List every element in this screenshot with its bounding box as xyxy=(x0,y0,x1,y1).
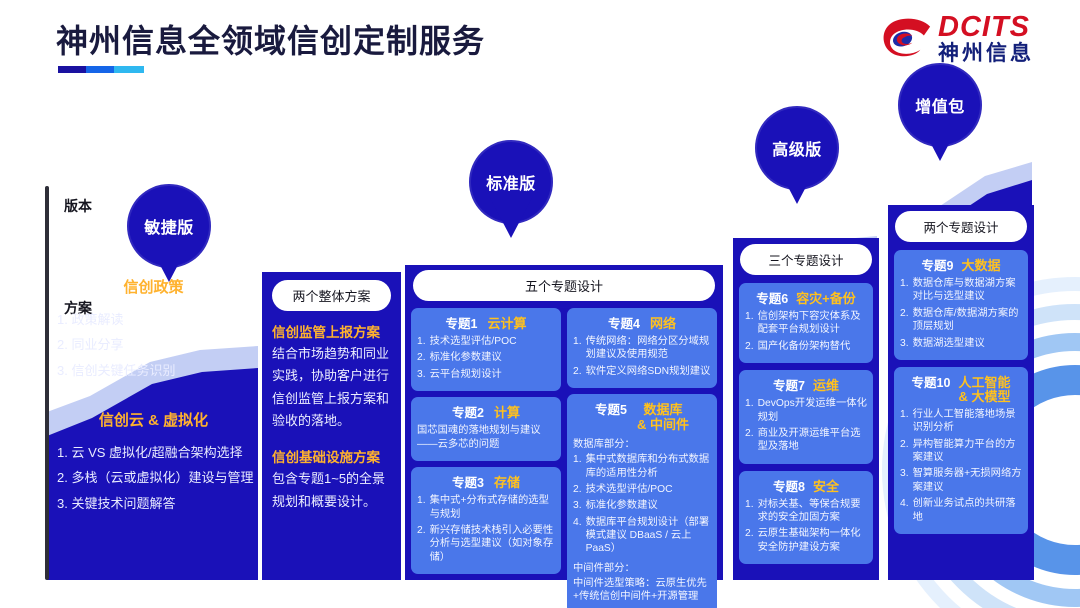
pin-agile[interactable]: 敏捷版 xyxy=(127,184,211,268)
list-item: 3.标准化参数建议 xyxy=(573,499,711,512)
topic-name: 运维 xyxy=(813,379,839,394)
title-underline xyxy=(58,66,144,73)
topic-name: 网络 xyxy=(650,317,676,332)
list-item: 3.云平台规划设计 xyxy=(417,368,555,381)
topic-name: 安全 xyxy=(813,480,839,495)
topic-name: 数据库& 中间件 xyxy=(637,403,689,432)
list-item: 2.数据仓库/数据湖方案的顶层规划 xyxy=(900,307,1022,334)
block-heading-supervision: 信创监管上报方案 xyxy=(272,321,391,341)
list-item: 4.创新业务试点的共研落地 xyxy=(900,497,1022,524)
column-three-topics: 三个专题设计 专题6 容灾+备份 1.信创架构下容灾体系及配套平台规划设计 2.… xyxy=(733,238,879,580)
block-text-supervision: 结合市场趋势和同业实践，协助客户进行信创监管上报方案和验收的落地。 xyxy=(272,343,391,432)
list-item: 1.集中式数据库和分布式数据库的适用性分析 xyxy=(573,453,711,480)
topic-number: 专题3 xyxy=(452,472,484,491)
block-heading-infrastructure: 信创基础设施方案 xyxy=(272,446,391,466)
column-overall-solutions: 两个整体方案 信创监管上报方案 结合市场趋势和同业实践，协助客户进行信创监管上报… xyxy=(262,272,401,580)
list-item: 1.集中式+分布式存储的选型与规划 xyxy=(417,494,555,521)
pin-label: 标准版 xyxy=(469,140,553,224)
list-item: 1.DevOps开发运维一体化规划 xyxy=(745,397,867,424)
topic-cards-right: 专题4 网络 1.传统网络：网络分区分域规划建议及使用规范 2.软件定义网络SD… xyxy=(567,308,717,608)
topic-card-1[interactable]: 专题1 云计算 1.技术选型评估/POC 2.标准化参数建议 3.云平台规划设计 xyxy=(411,308,561,391)
topic-name: 大数据 xyxy=(961,259,1000,274)
cloud-list: 1. 云 VS 虚拟化/超融合架构选择 2. 多栈（云或虚拟化）建设与管理 3.… xyxy=(47,440,260,516)
list-item: 2.商业及开源运维平台选型及落地 xyxy=(745,427,867,454)
topic-card-4[interactable]: 专题4 网络 1.传统网络：网络分区分域规划建议及使用规范 2.软件定义网络SD… xyxy=(567,308,717,388)
topic-card-5[interactable]: 专题5 数据库& 中间件 数据库部分： 1.集中式数据库和分布式数据库的适用性分… xyxy=(567,394,717,608)
list-item: 2. 多栈（云或虚拟化）建设与管理 xyxy=(57,465,260,490)
topic-number: 专题2 xyxy=(452,402,484,421)
topic-card-3[interactable]: 专题3 存储 1.集中式+分布式存储的选型与规划 2.新兴存储技术栈引入必要性分… xyxy=(411,467,561,574)
list-item: 3. 关键技术问题解答 xyxy=(57,491,260,516)
list-item: 1. 云 VS 虚拟化/超融合架构选择 xyxy=(57,440,260,465)
logo-en-text: DCITS xyxy=(938,12,1034,42)
list-item: 1.传统网络：网络分区分域规划建议及使用规范 xyxy=(573,335,711,362)
topic-card-10[interactable]: 专题10 人工智能& 大模型 1.行业人工智能落地场景识别分析 2.异构智能算力… xyxy=(894,367,1028,534)
list-item: 3.数据湖选型建议 xyxy=(900,337,1022,350)
list-item: 1.数据仓库与数据湖方案对比与选型建议 xyxy=(900,277,1022,304)
pill-five-topic-design[interactable]: 五个专题设计 xyxy=(413,270,715,301)
list-item: 2. 同业分享 xyxy=(57,332,260,357)
list-item: 1.行业人工智能落地场景识别分析 xyxy=(900,408,1022,435)
topic-number: 专题6 xyxy=(756,288,788,307)
topic-card-7[interactable]: 专题7 运维 1.DevOps开发运维一体化规划 2.商业及开源运维平台选型及落… xyxy=(739,370,873,464)
list-item: 2.标准化参数建议 xyxy=(417,351,555,364)
topic-name: 云计算 xyxy=(487,317,526,332)
slide-canvas: 神州信息全领域信创定制服务 DCITS 神州信息 版本 方案 xyxy=(0,0,1080,608)
pin-label: 高级版 xyxy=(755,106,839,190)
topic-number: 专题7 xyxy=(773,375,805,394)
pin-label: 增值包 xyxy=(898,63,982,147)
pin-label: 敏捷版 xyxy=(127,184,211,268)
topic-card-9[interactable]: 专题9 大数据 1.数据仓库与数据湖方案对比与选型建议 2.数据仓库/数据湖方案… xyxy=(894,250,1028,360)
topic-name: 容灾+备份 xyxy=(796,292,856,307)
column-agile: 信创政策 1. 政策解读 2. 同业分享 3. 信创关键任务识别 信创云 & 虚… xyxy=(47,276,260,516)
topic-number: 专题8 xyxy=(773,476,805,495)
page-title: 神州信息全领域信创定制服务 xyxy=(56,16,485,62)
axis-label-version: 版本 xyxy=(64,196,92,216)
topic-name: 人工智能& 大模型 xyxy=(958,376,1010,405)
section-heading-cloud: 信创云 & 虚拟化 xyxy=(47,409,260,430)
list-item: 2.异构智能算力平台的方案建议 xyxy=(900,438,1022,465)
list-item: 1.信创架构下容灾体系及配套平台规划设计 xyxy=(745,310,867,337)
pin-advanced[interactable]: 高级版 xyxy=(755,106,839,190)
topic-card-2[interactable]: 专题2 计算 国芯国魂的落地规划与建议——云多芯的问题 xyxy=(411,397,561,461)
topic-card-8[interactable]: 专题8 安全 1.对标关基、等保合规要求的安全加固方案 2.云原生基础架构一体化… xyxy=(739,471,873,565)
block-text-infrastructure: 包含专题1~5的全景规划和概要设计。 xyxy=(272,468,391,513)
list-item: 2.国产化备份架构替代 xyxy=(745,340,867,353)
pill-two-topic-design[interactable]: 两个专题设计 xyxy=(895,211,1027,242)
topic-number: 专题1 xyxy=(446,313,478,332)
list-item: 1.技术选型评估/POC xyxy=(417,335,555,348)
topic-number: 专题9 xyxy=(922,255,954,274)
list-item: 1.对标关基、等保合规要求的安全加固方案 xyxy=(745,498,867,525)
topic-text-mw: 中间件选型策略：云原生优先+传统信创中间件+开源管理 xyxy=(573,577,711,604)
list-item: 2.技术选型评估/POC xyxy=(573,483,711,496)
column-two-topics: 两个专题设计 专题9 大数据 1.数据仓库与数据湖方案对比与选型建议 2.数据仓… xyxy=(888,205,1034,580)
pill-two-overall-solutions[interactable]: 两个整体方案 xyxy=(272,280,391,311)
list-item: 2.软件定义网络SDN规划建议 xyxy=(573,365,711,378)
topic-subheading-db: 数据库部分： xyxy=(573,435,711,450)
topic-cards-left: 专题1 云计算 1.技术选型评估/POC 2.标准化参数建议 3.云平台规划设计… xyxy=(411,308,561,608)
list-item: 3. 信创关键任务识别 xyxy=(57,358,260,383)
pin-value-added[interactable]: 增值包 xyxy=(898,63,982,147)
swoosh-logo-icon xyxy=(880,16,934,64)
topic-number: 专题4 xyxy=(608,313,640,332)
topic-card-6[interactable]: 专题6 容灾+备份 1.信创架构下容灾体系及配套平台规划设计 2.国产化备份架构… xyxy=(739,283,873,363)
topic-number: 专题10 xyxy=(912,372,951,391)
pin-standard[interactable]: 标准版 xyxy=(469,140,553,224)
policy-list: 1. 政策解读 2. 同业分享 3. 信创关键任务识别 xyxy=(47,307,260,383)
list-item: 2.新兴存储技术栈引入必要性分析与选型建议（如对象存储） xyxy=(417,524,555,564)
list-item: 2.云原生基础架构一体化安全防护建设方案 xyxy=(745,527,867,554)
list-item: 4.数据库平台规划设计（部署模式建议 DBaaS / 云上PaaS） xyxy=(573,516,711,556)
section-heading-policy: 信创政策 xyxy=(47,276,260,297)
topic-text: 国芯国魂的落地规划与建议——云多芯的问题 xyxy=(417,424,555,451)
list-item: 3.智算服务器+无损网络方案建议 xyxy=(900,467,1022,494)
topic-name: 存储 xyxy=(494,476,520,491)
pill-three-topic-design[interactable]: 三个专题设计 xyxy=(740,244,872,275)
column-five-topics: 五个专题设计 专题1 云计算 1.技术选型评估/POC 2.标准化参数建议 3.… xyxy=(405,265,723,580)
topic-number: 专题5 xyxy=(595,399,627,418)
topic-subheading-mw: 中间件部分： xyxy=(573,559,711,574)
topic-name: 计算 xyxy=(494,406,520,421)
list-item: 1. 政策解读 xyxy=(57,307,260,332)
